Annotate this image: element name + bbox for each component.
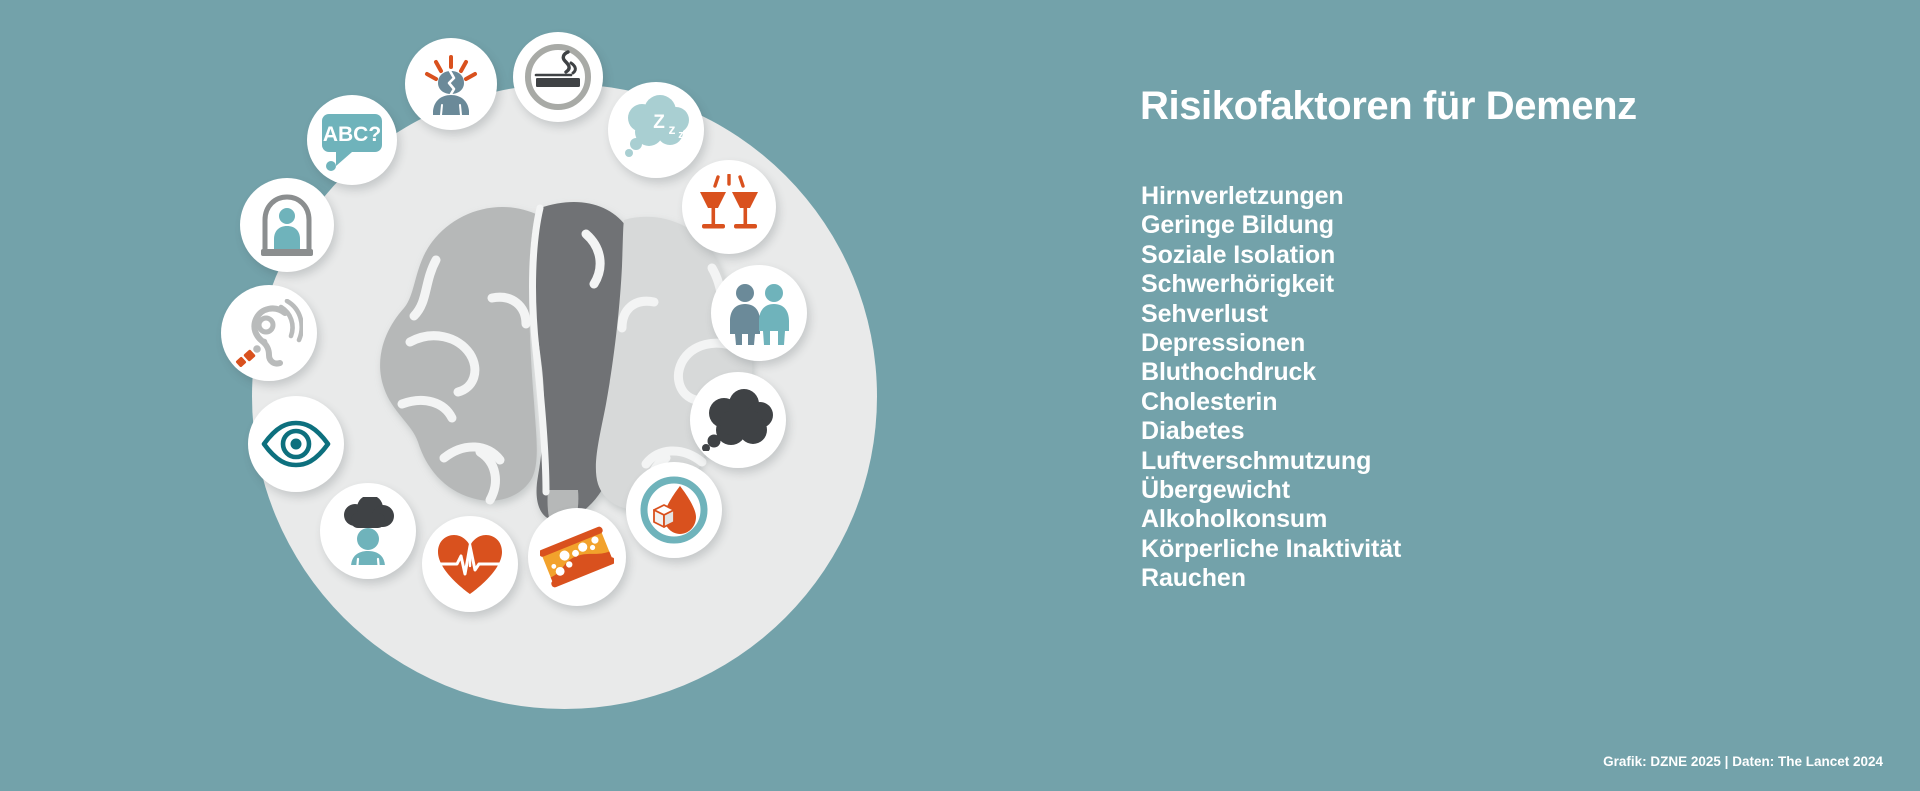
list-item: Schwerhörigkeit [1141, 270, 1401, 299]
sleep-zzz-cloud-icon[interactable]: Z z z [608, 82, 704, 178]
artery-plaque-icon[interactable] [528, 508, 626, 606]
toasting-glasses-icon[interactable] [682, 160, 776, 254]
illustration-panel: ABC? Z z z [0, 0, 1120, 791]
list-item: Alkoholkonsum [1141, 505, 1401, 534]
list-item: Körperliche Inaktivität [1141, 535, 1401, 564]
blood-drop-sugar-cube-icon[interactable] [626, 462, 722, 558]
credit-line: Grafik: DZNE 2025 | Daten: The Lancet 20… [1603, 754, 1883, 769]
list-item: Übergewicht [1141, 476, 1401, 505]
head-injury-icon[interactable] [405, 38, 497, 130]
list-item: Rauchen [1141, 564, 1401, 593]
page-title: Risikofaktoren für Demenz [1140, 84, 1637, 129]
list-item: Cholesterin [1141, 388, 1401, 417]
list-item: Soziale Isolation [1141, 241, 1401, 270]
svg-text:Z: Z [653, 112, 665, 133]
list-item: Luftverschmutzung [1141, 447, 1401, 476]
svg-text:z: z [669, 121, 676, 137]
text-panel: Risikofaktoren für Demenz Hirnverletzung… [1140, 0, 1920, 791]
list-item: Depressionen [1141, 329, 1401, 358]
svg-text:z: z [678, 129, 684, 141]
two-people-icon[interactable] [711, 265, 807, 361]
person-rain-cloud-icon[interactable] [320, 483, 416, 579]
person-in-bell-jar-icon[interactable] [240, 178, 334, 272]
abc-speech-bubble-icon[interactable]: ABC? [307, 95, 397, 185]
cigarette-icon[interactable] [513, 32, 603, 122]
eye-icon[interactable] [248, 396, 344, 492]
risk-factor-list: Hirnverletzungen Geringe Bildung Soziale… [1141, 182, 1401, 594]
ear-hearing-icon[interactable] [221, 285, 317, 381]
list-item: Hirnverletzungen [1141, 182, 1401, 211]
list-item: Geringe Bildung [1141, 211, 1401, 240]
svg-text:ABC?: ABC? [323, 123, 381, 146]
list-item: Sehverlust [1141, 300, 1401, 329]
list-item: Diabetes [1141, 417, 1401, 446]
heart-ecg-icon[interactable] [422, 516, 518, 612]
list-item: Bluthochdruck [1141, 358, 1401, 387]
smog-cloud-icon[interactable] [690, 372, 786, 468]
